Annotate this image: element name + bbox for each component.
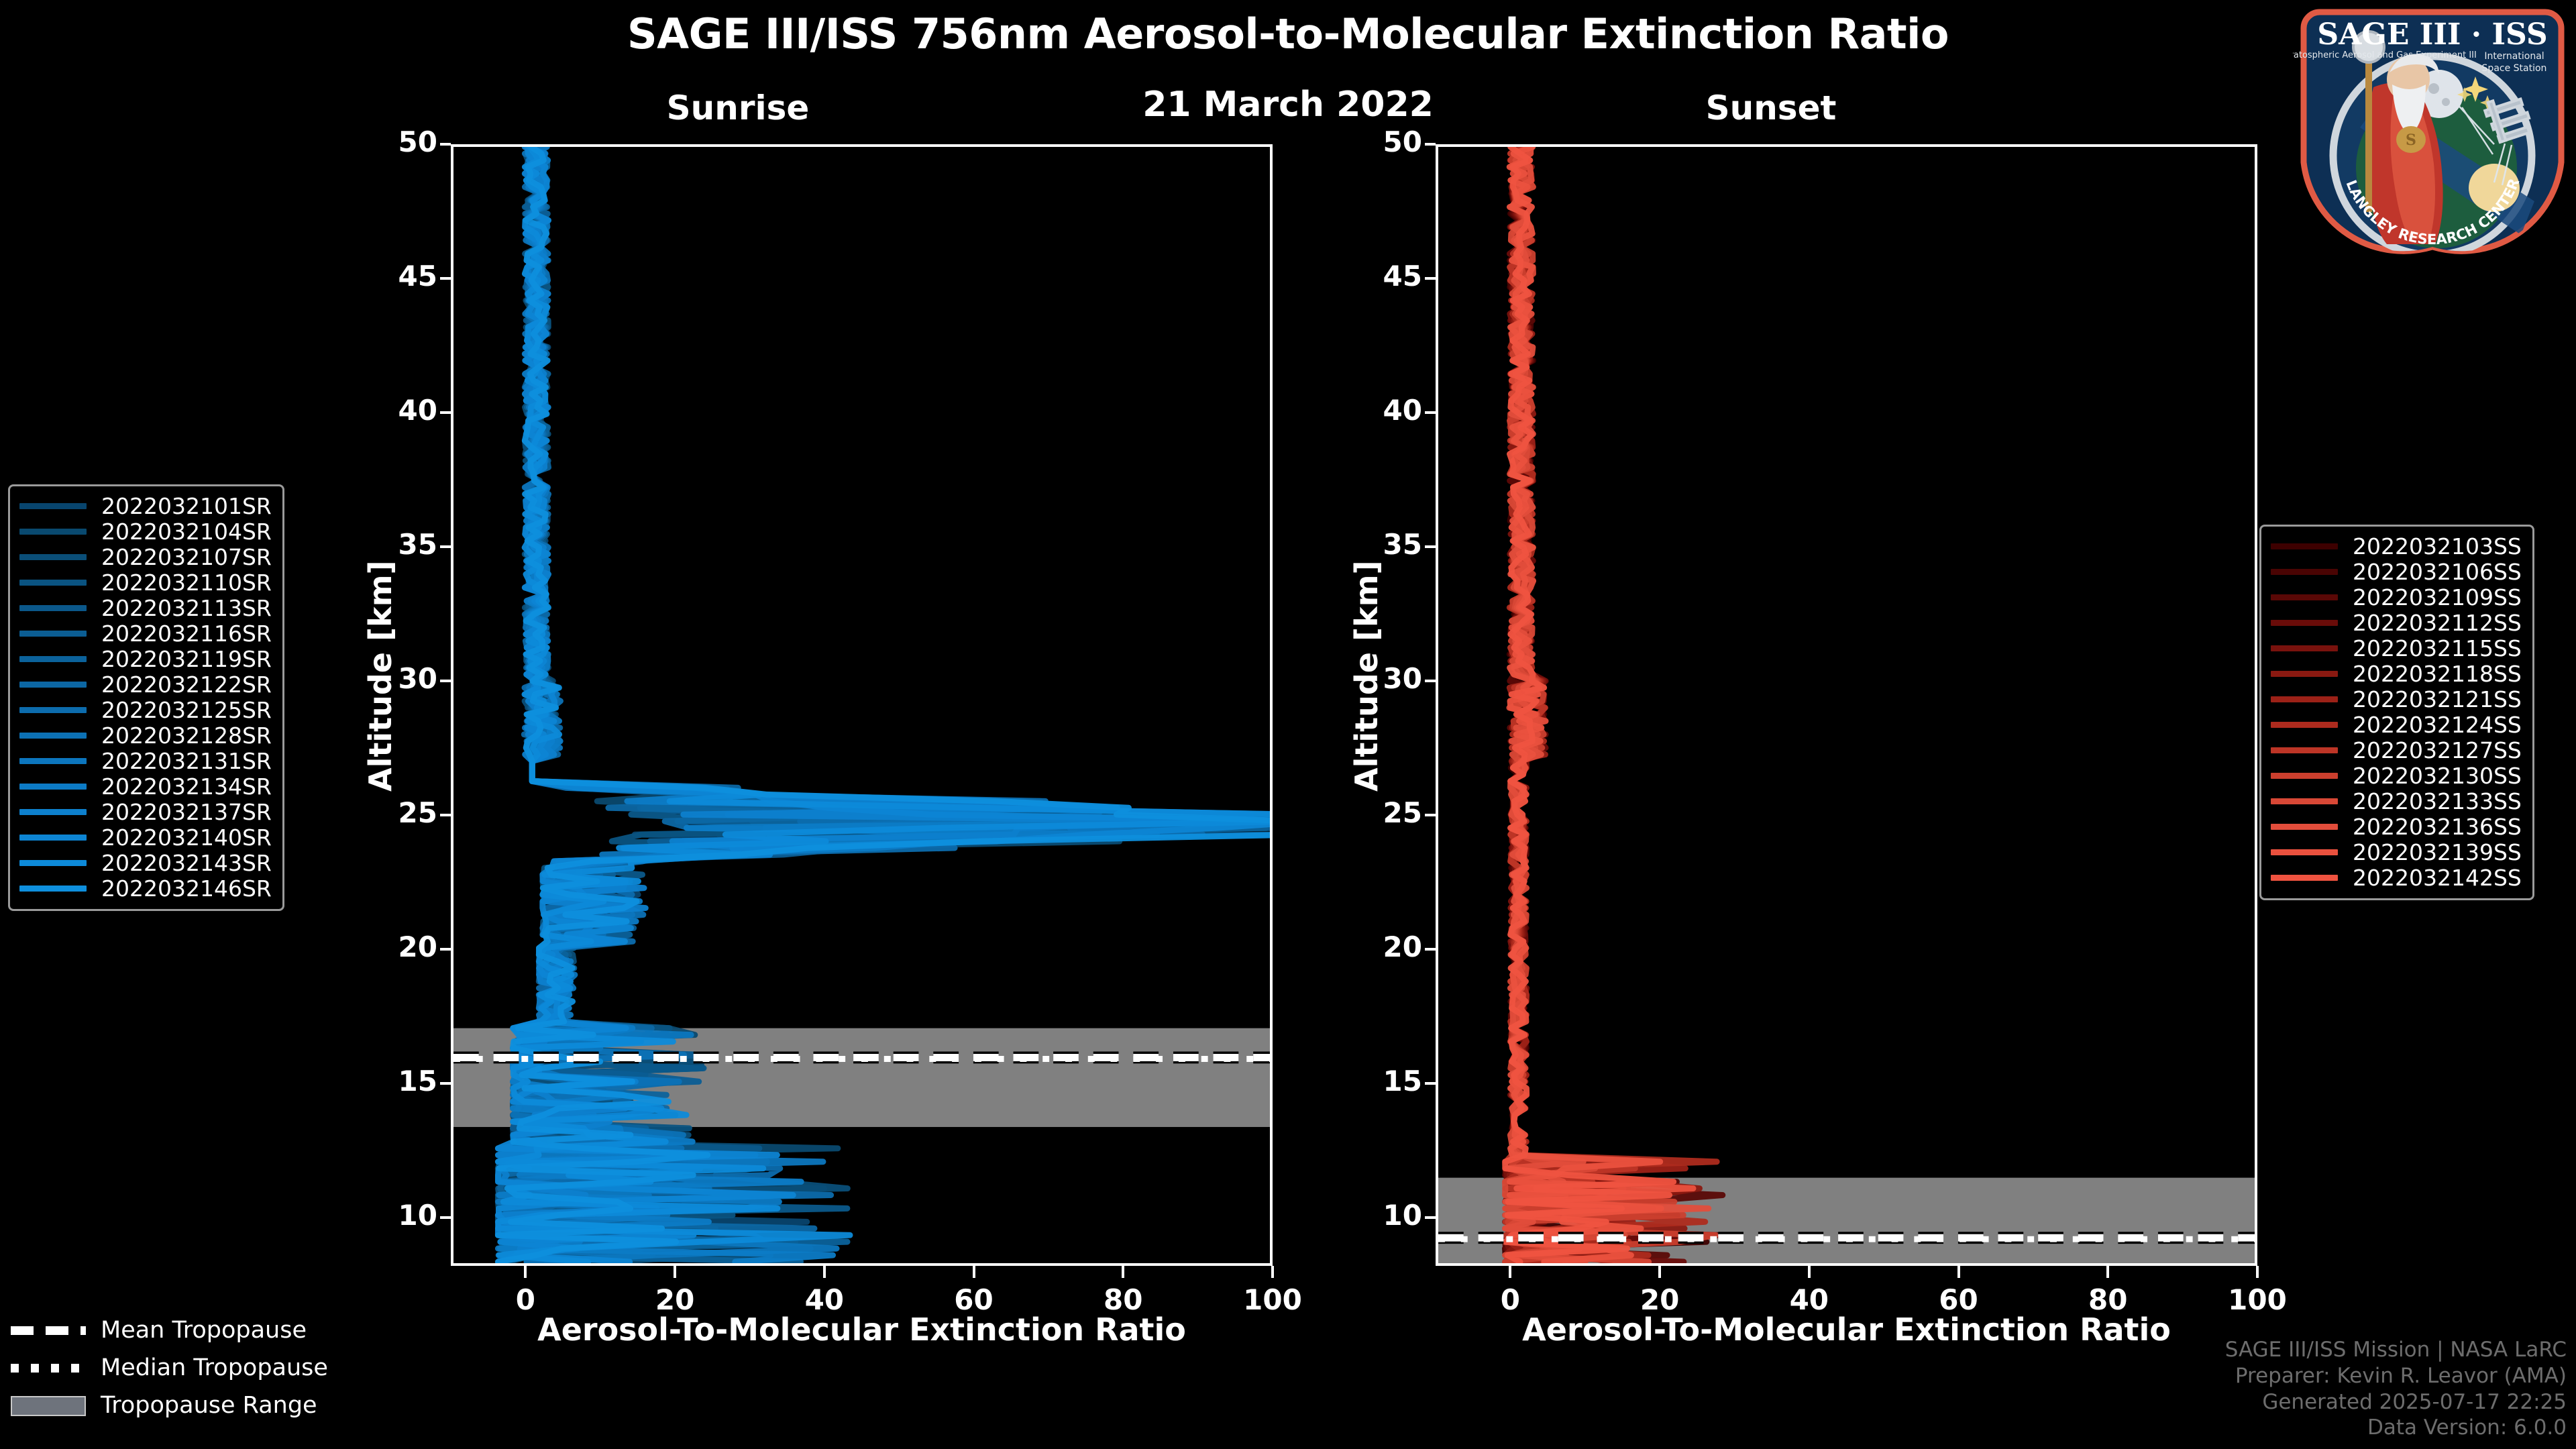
- sunset-legend-color-swatch: [2271, 671, 2338, 677]
- sunset-legend-label: 2022032112SS: [2353, 610, 2522, 636]
- sunrise-legend-item[interactable]: 2022032122SR: [19, 672, 272, 697]
- sunrise-legend-color-swatch: [19, 580, 87, 586]
- sunrise-y-tick-mark: [440, 1216, 451, 1219]
- logo-subtitle-right-1: International: [2484, 51, 2544, 62]
- sunset-legend-label: 2022032139SS: [2353, 839, 2522, 865]
- sunset-legend-color-swatch: [2271, 543, 2338, 549]
- sunset-legend-item[interactable]: 2022032106SS: [2271, 559, 2522, 584]
- sunset-legend-color-swatch: [2271, 875, 2338, 881]
- sunrise-legend-item[interactable]: 2022032146SR: [19, 875, 272, 901]
- sunset-y-tick-mark: [1425, 948, 1436, 951]
- sunrise-legend-color-swatch: [19, 529, 87, 535]
- sunrise-x-tick-mark: [1271, 1266, 1274, 1278]
- sunrise-x-tick-mark: [524, 1266, 527, 1278]
- logo-subtitle-right-2: Space Station: [2482, 63, 2547, 74]
- sunset-legend-color-swatch: [2271, 773, 2338, 779]
- sunrise-legend-label: 2022032146SR: [101, 875, 272, 902]
- sunset-legend: 2022032103SS2022032106SS2022032109SS2022…: [2259, 525, 2534, 900]
- sunset-legend-color-swatch: [2271, 569, 2338, 575]
- logo-title: SAGE III · ISS: [2317, 17, 2547, 52]
- sunrise-legend-label: 2022032119SR: [101, 646, 272, 672]
- credits-generated: Generated 2025-07-17 22:25: [2225, 1389, 2567, 1415]
- sunrise-y-tick-label: 25: [357, 796, 437, 829]
- tropopause-legend: Mean Tropopause Median Tropopause Tropop…: [11, 1311, 328, 1424]
- sunrise-legend-label: 2022032137SR: [101, 799, 272, 825]
- sunset-legend-label: 2022032109SS: [2353, 584, 2522, 610]
- sunset-legend-item[interactable]: 2022032115SS: [2271, 635, 2522, 661]
- sunrise-legend-item[interactable]: 2022032116SR: [19, 621, 272, 646]
- sunset-legend-color-swatch: [2271, 747, 2338, 753]
- sunset-legend-color-swatch: [2271, 824, 2338, 830]
- sunrise-legend-item[interactable]: 2022032125SR: [19, 697, 272, 722]
- sunset-legend-item[interactable]: 2022032124SS: [2271, 712, 2522, 737]
- sunset-legend-label: 2022032133SS: [2353, 788, 2522, 814]
- sunrise-y-tick-mark: [440, 814, 451, 816]
- sunrise-legend-color-swatch: [19, 656, 87, 662]
- page-subtitle-date: 21 March 2022: [0, 85, 2576, 125]
- sunset-x-tick-mark: [2256, 1266, 2259, 1278]
- sunset-y-tick-label: 30: [1342, 662, 1422, 695]
- sunrise-x-tick-label: 20: [628, 1283, 722, 1316]
- sunset-x-tick-label: 40: [1762, 1283, 1856, 1316]
- sunrise-x-tick-mark: [823, 1266, 826, 1278]
- sunrise-legend-color-swatch: [19, 885, 87, 892]
- sunset-legend-color-swatch: [2271, 696, 2338, 702]
- sunset-panel-title: Sunset: [1637, 89, 1905, 127]
- sunset-legend-item[interactable]: 2022032121SS: [2271, 686, 2522, 712]
- sunrise-legend-label: 2022032140SR: [101, 824, 272, 851]
- median-tropopause-dot-icon: [11, 1360, 86, 1375]
- sunset-plot-area: [1436, 144, 2257, 1266]
- sunset-legend-label: 2022032127SS: [2353, 737, 2522, 763]
- mean-tropopause-dash-icon: [11, 1323, 86, 1338]
- sunset-x-tick-mark: [1509, 1266, 1511, 1278]
- sunrise-y-tick-label: 30: [357, 662, 437, 695]
- sunrise-y-tick-label: 45: [357, 260, 437, 292]
- sunrise-legend-color-swatch: [19, 554, 87, 560]
- sunrise-x-tick-label: 80: [1076, 1283, 1170, 1316]
- sunset-y-tick-mark: [1425, 545, 1436, 548]
- sunrise-legend-item[interactable]: 2022032128SR: [19, 722, 272, 748]
- sunrise-legend-label: 2022032143SR: [101, 850, 272, 876]
- sunrise-legend-color-swatch: [19, 860, 87, 866]
- sunrise-legend-label: 2022032107SR: [101, 544, 272, 570]
- sunrise-y-tick-mark: [440, 411, 451, 414]
- sunset-y-tick-label: 10: [1342, 1199, 1422, 1232]
- sunset-y-tick-mark: [1425, 1082, 1436, 1085]
- sunrise-legend-label: 2022032131SR: [101, 748, 272, 774]
- sunset-y-tick-mark: [1425, 143, 1436, 146]
- sunset-x-axis-label: Aerosol-To-Molecular Extinction Ratio: [1436, 1311, 2257, 1348]
- legend-item-mean-tropopause: Mean Tropopause: [11, 1311, 328, 1349]
- sunrise-legend-color-swatch: [19, 605, 87, 611]
- tropopause-range-box-icon: [11, 1398, 86, 1413]
- sunrise-y-tick-mark: [440, 948, 451, 951]
- sunset-legend-item[interactable]: 2022032142SS: [2271, 865, 2522, 890]
- sunset-y-tick-label: 20: [1342, 930, 1422, 963]
- legend-item-tropopause-range: Tropopause Range: [11, 1387, 328, 1424]
- sunset-y-tick-label: 50: [1342, 125, 1422, 158]
- sunset-legend-color-swatch: [2271, 620, 2338, 626]
- sunrise-legend-label: 2022032128SR: [101, 722, 272, 749]
- sunset-legend-label: 2022032115SS: [2353, 635, 2522, 661]
- sunrise-y-tick-mark: [440, 277, 451, 280]
- sunrise-legend-color-swatch: [19, 809, 87, 815]
- sunset-legend-item[interactable]: 2022032118SS: [2271, 661, 2522, 686]
- sunset-legend-label: 2022032124SS: [2353, 712, 2522, 738]
- sunset-x-tick-label: 60: [1912, 1283, 2006, 1316]
- sunrise-x-tick-label: 40: [777, 1283, 871, 1316]
- sunset-legend-item[interactable]: 2022032127SS: [2271, 737, 2522, 763]
- sunrise-legend-item[interactable]: 2022032143SR: [19, 850, 272, 875]
- credits-data-version: Data Version: 6.0.0: [2225, 1415, 2567, 1441]
- sunrise-plot-area: [451, 144, 1273, 1266]
- credits-preparer: Preparer: Kevin R. Leavor (AMA): [2225, 1363, 2567, 1389]
- sunset-legend-item[interactable]: 2022032133SS: [2271, 788, 2522, 814]
- sunrise-legend-label: 2022032113SR: [101, 595, 272, 621]
- legend-item-median-tropopause: Median Tropopause: [11, 1349, 328, 1387]
- sunset-legend-item[interactable]: 2022032130SS: [2271, 763, 2522, 788]
- sunset-y-tick-label: 15: [1342, 1065, 1422, 1097]
- sunrise-legend-item[interactable]: 2022032104SR: [19, 519, 272, 544]
- sunset-legend-color-swatch: [2271, 798, 2338, 804]
- sunset-x-tick-label: 80: [2061, 1283, 2155, 1316]
- sunset-legend-item[interactable]: 2022032112SS: [2271, 610, 2522, 635]
- sunrise-legend-color-swatch: [19, 733, 87, 739]
- sunrise-legend-label: 2022032125SR: [101, 697, 272, 723]
- sunset-y-tick-mark: [1425, 411, 1436, 414]
- sunrise-legend-item[interactable]: 2022032113SR: [19, 595, 272, 621]
- sunset-x-tick-label: 100: [2210, 1283, 2304, 1316]
- sunrise-legend-item[interactable]: 2022032119SR: [19, 646, 272, 672]
- sunset-y-tick-mark: [1425, 814, 1436, 816]
- sunset-legend-label: 2022032130SS: [2353, 763, 2522, 789]
- sunset-legend-label: 2022032118SS: [2353, 661, 2522, 687]
- sunrise-x-tick-label: 0: [478, 1283, 572, 1316]
- sunset-y-tick-label: 25: [1342, 796, 1422, 829]
- sunset-y-tick-mark: [1425, 1216, 1436, 1219]
- sunrise-legend-item[interactable]: 2022032140SR: [19, 824, 272, 850]
- sunrise-legend-item[interactable]: 2022032134SR: [19, 773, 272, 799]
- sunset-x-tick-mark: [1957, 1266, 1960, 1278]
- sunset-x-tick-mark: [1658, 1266, 1661, 1278]
- sunrise-legend-color-swatch: [19, 707, 87, 713]
- sunset-y-tick-mark: [1425, 277, 1436, 280]
- sunrise-legend-label: 2022032122SR: [101, 672, 272, 698]
- sunset-legend-item[interactable]: 2022032139SS: [2271, 839, 2522, 865]
- sunrise-x-axis-label: Aerosol-To-Molecular Extinction Ratio: [451, 1311, 1273, 1348]
- sunrise-legend-label: 2022032116SR: [101, 621, 272, 647]
- sunrise-y-tick-label: 40: [357, 394, 437, 427]
- sunrise-panel-title: Sunrise: [604, 89, 872, 127]
- sunrise-y-tick-mark: [440, 1082, 451, 1085]
- sunset-legend-label: 2022032136SS: [2353, 814, 2522, 840]
- sunset-legend-item[interactable]: 2022032103SS: [2271, 533, 2522, 559]
- sunrise-legend-color-swatch: [19, 835, 87, 841]
- sunrise-x-tick-mark: [1122, 1266, 1124, 1278]
- sunrise-legend-item[interactable]: 2022032110SR: [19, 570, 272, 595]
- sunrise-legend-color-swatch: [19, 758, 87, 764]
- sunset-legend-color-swatch: [2271, 645, 2338, 651]
- sunset-legend-label: 2022032121SS: [2353, 686, 2522, 712]
- sunset-legend-item[interactable]: 2022032109SS: [2271, 584, 2522, 610]
- sunrise-y-tick-mark: [440, 545, 451, 548]
- sunrise-legend-item[interactable]: 2022032137SR: [19, 799, 272, 824]
- sunrise-y-tick-label: 10: [357, 1199, 437, 1232]
- sunrise-legend-label: 2022032101SR: [101, 493, 272, 519]
- page-title: SAGE III/ISS 756nm Aerosol-to-Molecular …: [0, 9, 2576, 58]
- sunset-y-tick-label: 35: [1342, 528, 1422, 561]
- sunset-legend-label: 2022032103SS: [2353, 533, 2522, 559]
- sunrise-legend-color-swatch: [19, 503, 87, 509]
- sunrise-y-tick-mark: [440, 143, 451, 146]
- sunset-y-tick-label: 45: [1342, 260, 1422, 292]
- sunrise-y-tick-label: 20: [357, 930, 437, 963]
- sunrise-legend-item[interactable]: 2022032101SR: [19, 493, 272, 519]
- sage-iii-iss-logo: S SAGE III · ISS Stratospheric Aerosol a…: [2293, 0, 2572, 263]
- sunrise-x-tick-mark: [973, 1266, 975, 1278]
- sunset-legend-item[interactable]: 2022032136SS: [2271, 814, 2522, 839]
- sunrise-legend-color-swatch: [19, 682, 87, 688]
- sunrise-legend-label: 2022032110SR: [101, 570, 272, 596]
- sunrise-x-tick-label: 100: [1226, 1283, 1320, 1316]
- sunrise-legend-label: 2022032104SR: [101, 519, 272, 545]
- sunset-legend-label: 2022032142SS: [2353, 865, 2522, 891]
- sunrise-legend-item[interactable]: 2022032131SR: [19, 748, 272, 773]
- logo-subtitle-left: Stratospheric Aerosol and Gas Experiment…: [2293, 50, 2477, 60]
- sunset-x-tick-mark: [2106, 1266, 2109, 1278]
- sunset-y-tick-mark: [1425, 680, 1436, 682]
- sunrise-legend-color-swatch: [19, 784, 87, 790]
- sunset-legend-color-swatch: [2271, 849, 2338, 855]
- sunrise-y-tick-label: 15: [357, 1065, 437, 1097]
- sunrise-legend-label: 2022032134SR: [101, 773, 272, 800]
- svg-text:S: S: [2406, 131, 2416, 149]
- sunrise-x-tick-mark: [674, 1266, 676, 1278]
- sunset-y-tick-label: 40: [1342, 394, 1422, 427]
- sunrise-y-tick-label: 35: [357, 528, 437, 561]
- sunset-x-tick-mark: [1808, 1266, 1811, 1278]
- sunset-legend-color-swatch: [2271, 722, 2338, 728]
- sunrise-legend-color-swatch: [19, 631, 87, 637]
- sunset-legend-color-swatch: [2271, 594, 2338, 600]
- sunrise-x-tick-label: 60: [927, 1283, 1021, 1316]
- credits-block: SAGE III/ISS Mission | NASA LaRC Prepare…: [2225, 1337, 2567, 1441]
- credits-mission: SAGE III/ISS Mission | NASA LaRC: [2225, 1337, 2567, 1363]
- sunset-x-tick-label: 20: [1613, 1283, 1707, 1316]
- sunset-legend-label: 2022032106SS: [2353, 559, 2522, 585]
- sunrise-y-tick-label: 50: [357, 125, 437, 158]
- sunset-x-tick-label: 0: [1463, 1283, 1557, 1316]
- sunrise-y-tick-mark: [440, 680, 451, 682]
- sunrise-legend-item[interactable]: 2022032107SR: [19, 544, 272, 570]
- sunrise-legend: 2022032101SR2022032104SR2022032107SR2022…: [8, 484, 284, 911]
